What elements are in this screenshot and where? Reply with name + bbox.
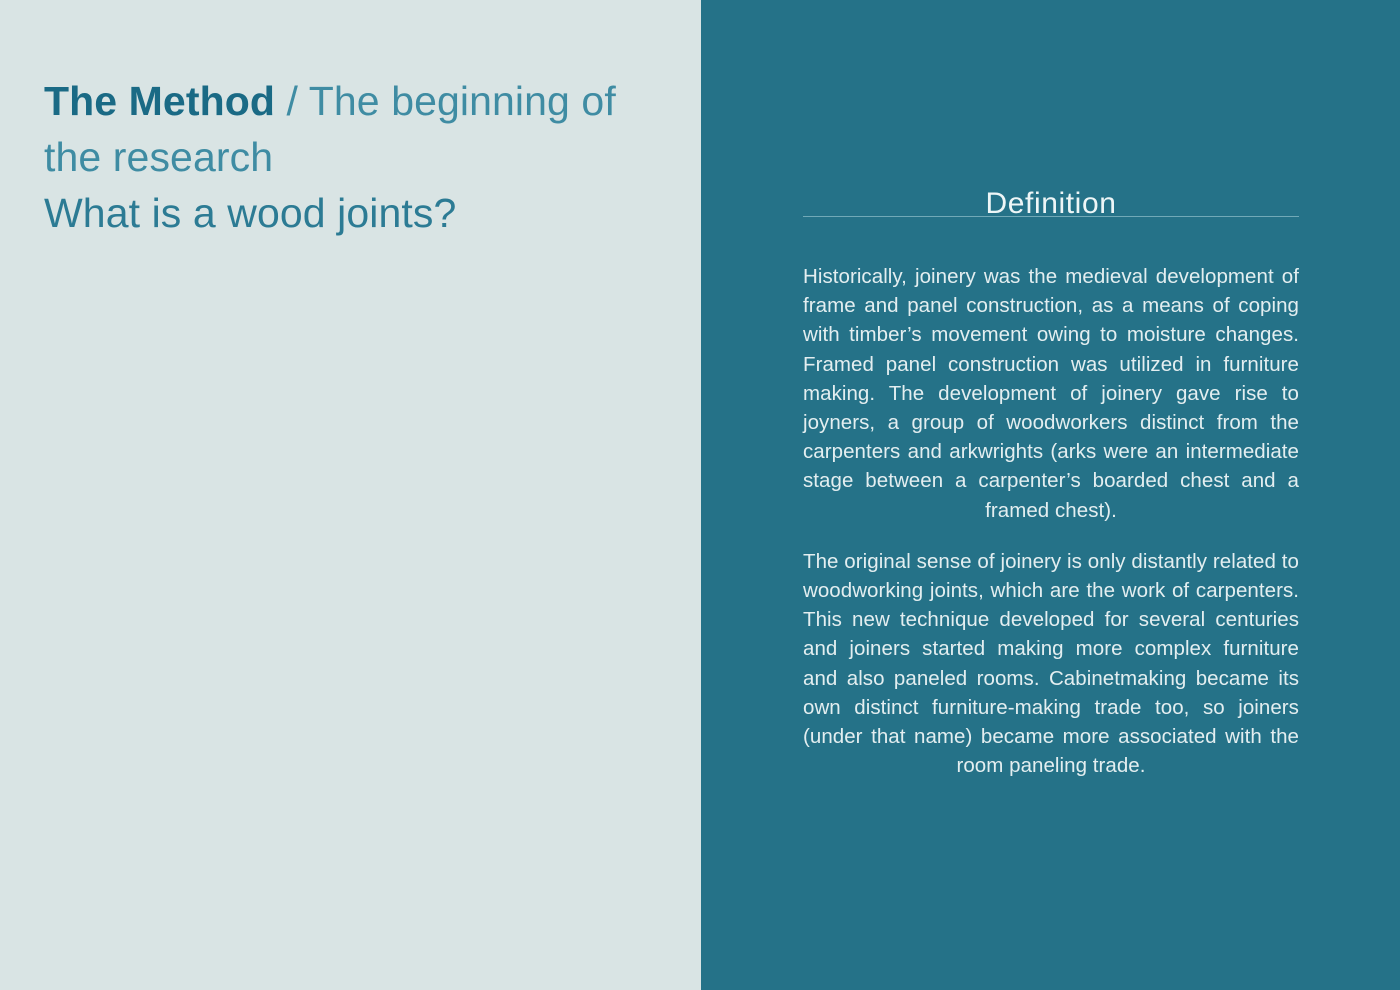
title-separator: / bbox=[275, 78, 309, 124]
definition-paragraph-1: Historically, joinery was the medieval d… bbox=[803, 262, 1299, 525]
page-title: The Method / The beginning of the resear… bbox=[44, 73, 677, 241]
title-strong-part: The Method bbox=[44, 78, 275, 124]
left-panel: The Method / The beginning of the resear… bbox=[0, 0, 701, 990]
definition-paragraph-2: The original sense of joinery is only di… bbox=[803, 547, 1299, 781]
heading-divider bbox=[803, 216, 1299, 217]
right-panel: Definition Historically, joinery was the… bbox=[701, 0, 1400, 990]
definition-body: Historically, joinery was the medieval d… bbox=[803, 262, 1299, 780]
slide-root: The Method / The beginning of the resear… bbox=[0, 0, 1400, 990]
title-question: What is a wood joints? bbox=[44, 185, 677, 241]
